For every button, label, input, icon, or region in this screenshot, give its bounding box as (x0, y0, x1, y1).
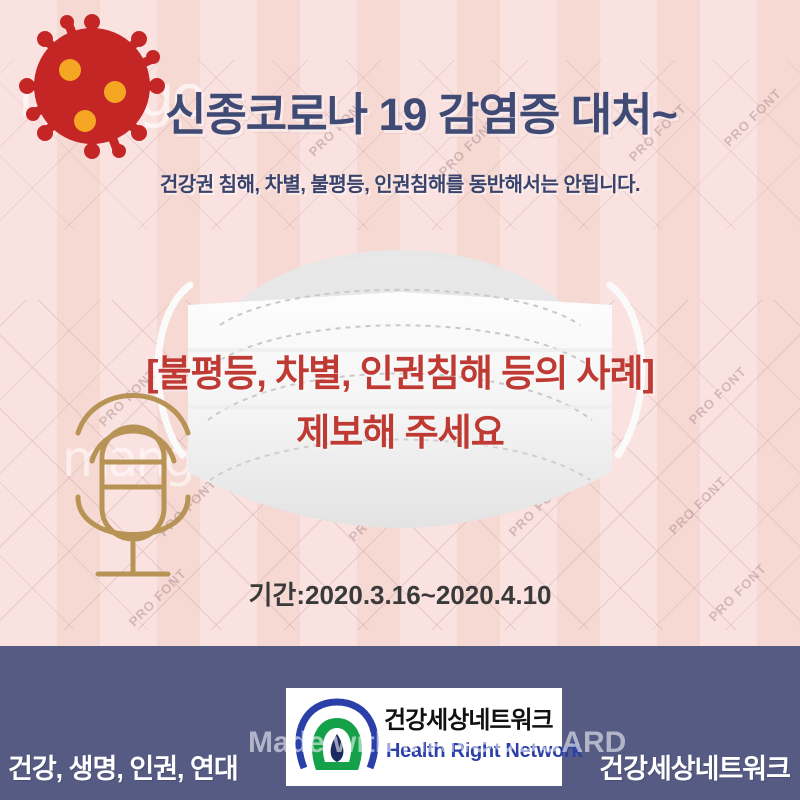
campaign-period: 기간:2020.3.16~2020.4.10 (0, 575, 800, 612)
headline-line-2: 제보해 주세요 (0, 402, 800, 456)
microphone-icon (60, 365, 205, 590)
footer-organization: 건강세상네트워크 (599, 747, 790, 786)
page-subtitle: 건강권 침해, 차별, 불평등, 인권침해를 동반해서는 안됩니다. (0, 168, 800, 197)
page-title: 신종코로나 19 감염증 대처~ (165, 78, 785, 143)
virus-dot (104, 81, 126, 103)
footer-slogan: 건강, 생명, 인권, 연대 (8, 747, 238, 786)
headline-line-1: [불평등, 차별, 인권침해 등의 사례] (0, 343, 800, 397)
virus-dot (74, 110, 96, 132)
virus-icon (12, 8, 172, 168)
logo-english-name: Health Right Network (386, 740, 582, 763)
poster-canvas: PRO FONT PRO FONT PRO FONT PRO FONT PRO … (0, 0, 800, 800)
logo-korean-name: 건강세상네트워크 (384, 700, 553, 735)
logo-mark-icon (294, 696, 380, 780)
virus-dot (59, 59, 81, 81)
organization-logo: 건강세상네트워크 Health Right Network (286, 688, 562, 786)
